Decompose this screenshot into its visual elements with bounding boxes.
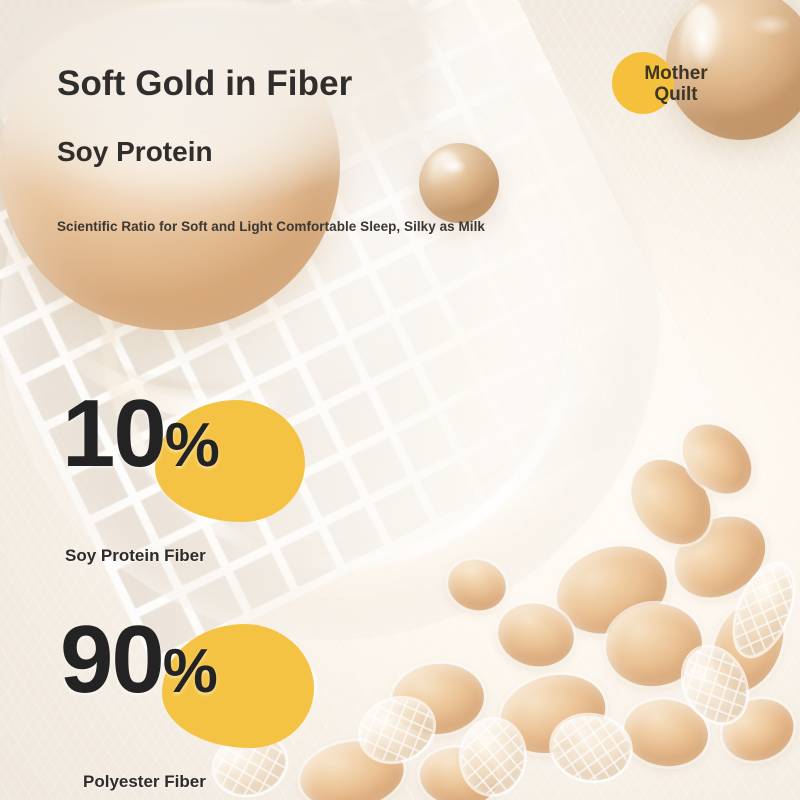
- stat-number: 90: [60, 606, 163, 713]
- page-title: Soft Gold in Fiber: [57, 64, 352, 104]
- percent-sign: %: [165, 411, 219, 480]
- product-poster: Soft Gold in Fiber Soy Protein Scientifi…: [0, 0, 800, 800]
- stat-value: 90%: [60, 612, 217, 708]
- stat-value: 10%: [62, 386, 219, 482]
- page-subtitle: Soy Protein: [57, 136, 213, 168]
- brand-badge-line1: Mother: [624, 64, 728, 85]
- brand-badge-line2: Quilt: [624, 85, 728, 106]
- stat-caption: Soy Protein Fiber: [65, 546, 206, 566]
- brand-badge: Mother Quilt: [624, 64, 728, 105]
- tagline: Scientific Ratio for Soft and Light Comf…: [57, 219, 485, 234]
- stat-caption: Polyester Fiber: [83, 772, 206, 792]
- stat-number: 10: [62, 380, 165, 487]
- percent-sign: %: [163, 637, 217, 706]
- soy-bead-small: [419, 143, 499, 223]
